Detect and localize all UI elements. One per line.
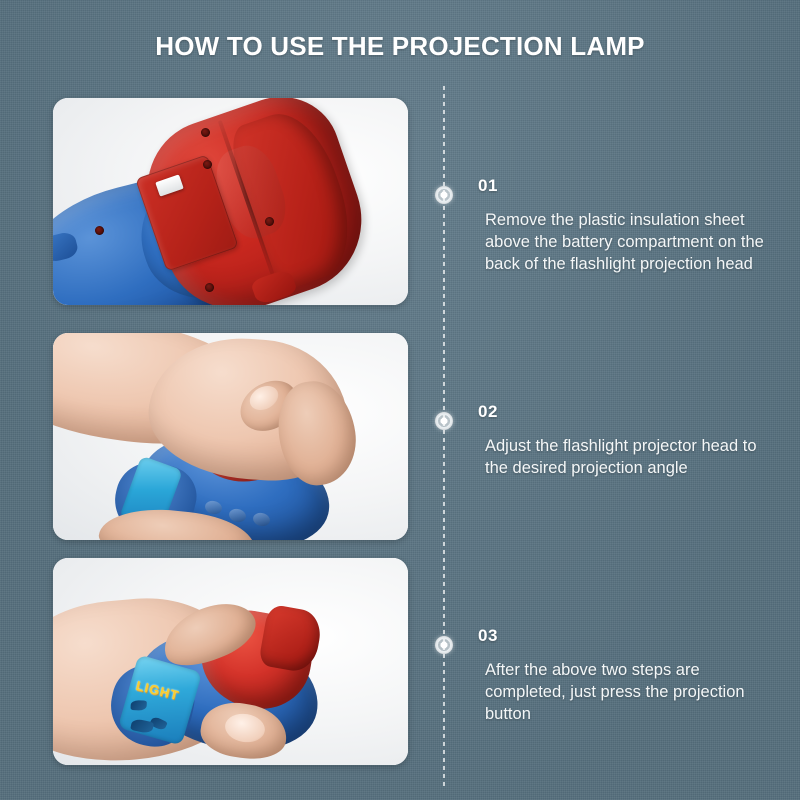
step-number-01: 01 <box>478 176 778 196</box>
page-title: HOW TO USE THE PROJECTION LAMP <box>0 31 800 62</box>
step-block-1: 01 Remove the plastic insulation sheet a… <box>478 176 778 275</box>
product-photo-1 <box>53 98 408 305</box>
sticker-label: LIGHT <box>134 678 180 703</box>
step-block-2: 02 Adjust the flashlight projector head … <box>478 402 778 480</box>
screw-icon <box>95 226 104 235</box>
product-photo-2 <box>53 333 408 540</box>
step-photo-card-2 <box>53 333 408 540</box>
step-number-02: 02 <box>478 402 778 422</box>
screw-icon <box>201 128 210 137</box>
step-description-02: Adjust the flashlight projector head to … <box>478 436 778 480</box>
timeline-marker-03 <box>435 636 453 654</box>
screw-icon <box>265 217 274 226</box>
step-description-03: After the above two steps are completed,… <box>478 660 778 725</box>
screw-icon <box>203 160 212 169</box>
step-block-3: 03 After the above two steps are complet… <box>478 626 778 725</box>
step-photo-card-1 <box>53 98 408 305</box>
step-photo-card-3: LIGHT <box>53 558 408 765</box>
screw-icon <box>205 283 214 292</box>
step-description-01: Remove the plastic insulation sheet abov… <box>478 210 778 275</box>
timeline-marker-01 <box>435 186 453 204</box>
timeline-marker-02 <box>435 412 453 430</box>
product-photo-3: LIGHT <box>53 558 408 765</box>
step-number-03: 03 <box>478 626 778 646</box>
instruction-page: HOW TO USE THE PROJECTION LAMP <box>0 0 800 800</box>
fish-icon <box>131 700 147 711</box>
